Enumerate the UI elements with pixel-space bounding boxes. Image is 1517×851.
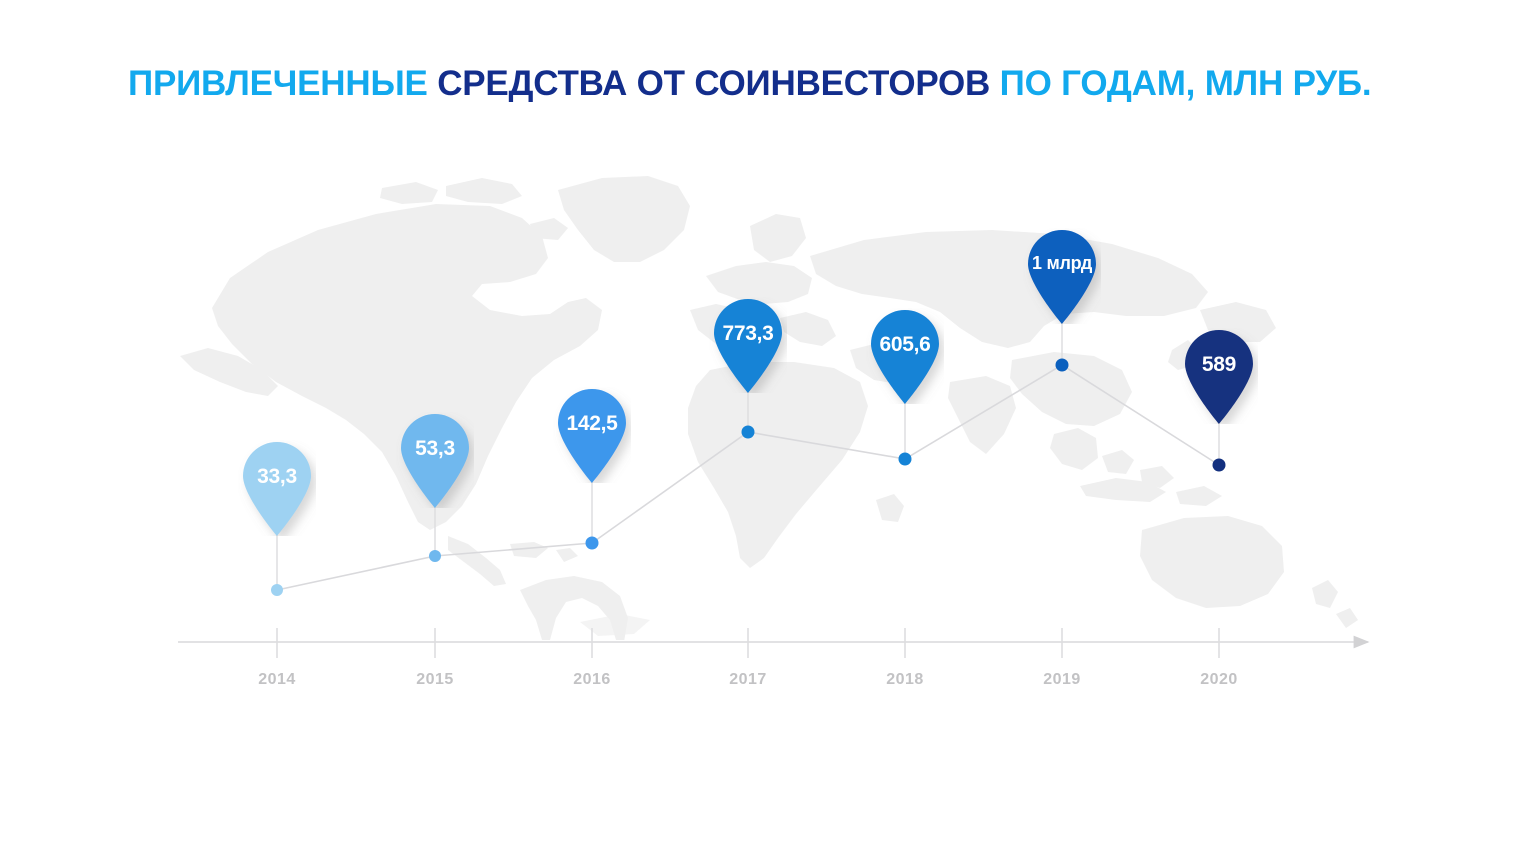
axis-label-2018: 2018 [860, 671, 950, 689]
axis-label-2015: 2015 [390, 671, 480, 689]
data-dot [586, 537, 599, 550]
pin-shape-icon [709, 297, 787, 393]
slide-canvas: ПРИВЛЕЧЕННЫЕ СРЕДСТВА ОТ СОИНВЕСТОРОВ ПО… [0, 0, 1517, 851]
pin-shape-icon [1023, 228, 1101, 324]
data-dot [429, 550, 441, 562]
data-dot [1213, 459, 1226, 472]
pin-shape-icon [866, 308, 944, 404]
data-dot [742, 426, 755, 439]
pin-shape-icon [396, 412, 474, 508]
data-dot [271, 584, 283, 596]
pin-shape-icon [238, 440, 316, 536]
map-pin-2014[interactable]: 33,3 [238, 440, 316, 536]
map-pin-2018[interactable]: 605,6 [866, 308, 944, 404]
axis-label-2014: 2014 [232, 671, 322, 689]
axis-label-2019: 2019 [1017, 671, 1107, 689]
map-pin-2019[interactable]: 1 млрд [1023, 228, 1101, 324]
map-pin-2020[interactable]: 589 [1180, 328, 1258, 424]
data-dot [1056, 359, 1069, 372]
data-dot [899, 453, 912, 466]
axis-label-2020: 2020 [1174, 671, 1264, 689]
axis-label-2016: 2016 [547, 671, 637, 689]
axis-label-2017: 2017 [703, 671, 793, 689]
pin-shape-icon [553, 387, 631, 483]
map-pin-2017[interactable]: 773,3 [709, 297, 787, 393]
map-pin-2015[interactable]: 53,3 [396, 412, 474, 508]
chart-plot [0, 0, 1517, 851]
pin-shape-icon [1180, 328, 1258, 424]
x-axis [178, 628, 1368, 658]
map-pin-2016[interactable]: 142,5 [553, 387, 631, 483]
